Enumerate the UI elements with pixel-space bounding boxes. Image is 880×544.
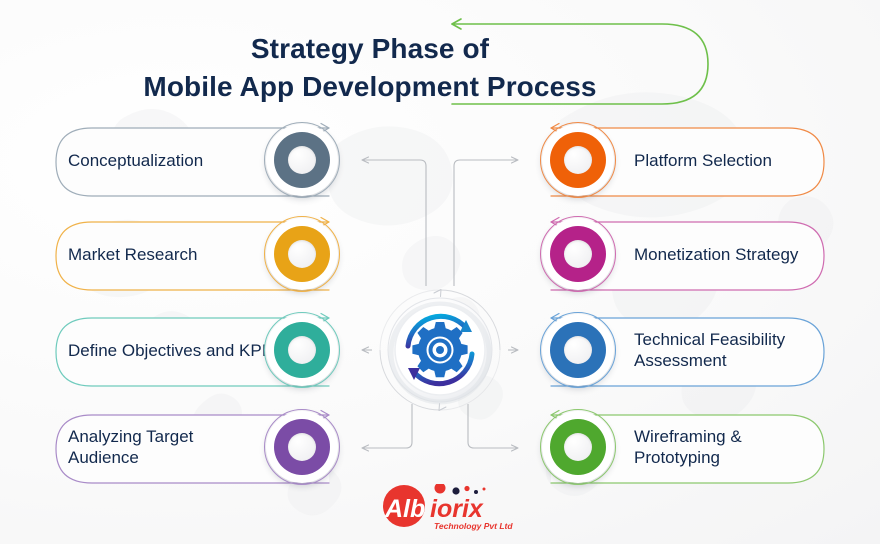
- card-label-platform-selection: Platform Selection: [634, 124, 829, 196]
- donut-badge-market-research: [264, 216, 340, 292]
- card-technical-feasibility[interactable]: Technical Feasibility Assessment: [534, 314, 832, 386]
- card-label-technical-feasibility: Technical Feasibility Assessment: [634, 314, 829, 386]
- card-market-research[interactable]: Market Research: [48, 218, 346, 290]
- donut-badge-conceptualization: [264, 122, 340, 198]
- donut-badge-technical-feasibility: [540, 312, 616, 388]
- card-analyzing-audience[interactable]: Analyzing Target Audience: [48, 411, 346, 483]
- card-label-wireframing-prototyping: Wireframing & Prototyping: [634, 411, 829, 483]
- donut-badge-platform-selection: [540, 122, 616, 198]
- card-define-objectives[interactable]: Define Objectives and KPI: [48, 314, 346, 386]
- infographic-canvas: Strategy Phase of Mobile App Development…: [0, 0, 880, 544]
- donut-badge-monetization-strategy: [540, 216, 616, 292]
- logo-tagline: Technology Pvt Ltd: [434, 521, 513, 531]
- center-hub: [374, 284, 506, 416]
- donut-badge-wireframing-prototyping: [540, 409, 616, 485]
- albiorix-logo: Alb iorix Technology Pvt Ltd: [368, 484, 514, 536]
- donut-badge-define-objectives: [264, 312, 340, 388]
- gear-refresh-icon: [412, 322, 467, 377]
- logo-brand-part1: Alb: [384, 495, 425, 523]
- card-label-analyzing-audience: Analyzing Target Audience: [68, 411, 268, 483]
- card-platform-selection[interactable]: Platform Selection: [534, 124, 832, 196]
- card-label-conceptualization: Conceptualization: [68, 124, 268, 196]
- card-conceptualization[interactable]: Conceptualization: [48, 124, 346, 196]
- card-monetization-strategy[interactable]: Monetization Strategy: [534, 218, 832, 290]
- card-wireframing-prototyping[interactable]: Wireframing & Prototyping: [534, 411, 832, 483]
- card-label-monetization-strategy: Monetization Strategy: [634, 218, 829, 290]
- card-label-market-research: Market Research: [68, 218, 268, 290]
- card-label-define-objectives: Define Objectives and KPI: [68, 314, 268, 386]
- donut-badge-analyzing-audience: [264, 409, 340, 485]
- logo-brand-part2: iorix: [430, 495, 484, 523]
